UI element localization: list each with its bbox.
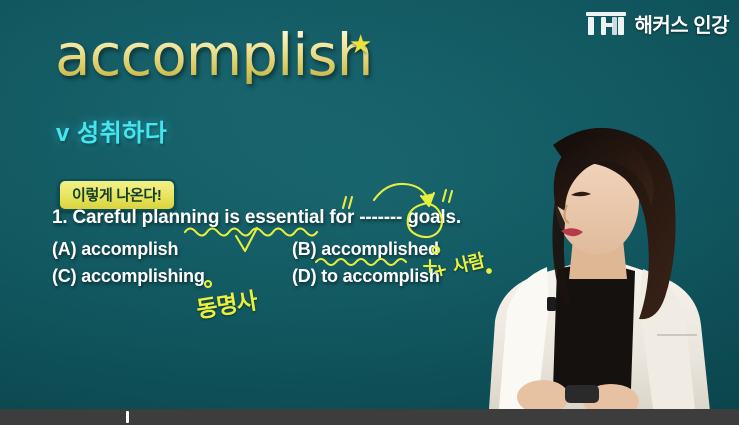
option-d-text: to accomplish xyxy=(321,266,439,286)
option-c-label: (C) xyxy=(52,266,81,286)
emphasis-tick-right xyxy=(443,190,452,202)
ht-monogram-icon xyxy=(585,11,627,36)
option-d: (D) to accomplish xyxy=(292,266,440,287)
arrow-to-goals xyxy=(374,184,428,200)
headword: accomplish xyxy=(55,26,372,84)
arrow-head xyxy=(421,193,434,206)
brand-name: 해커스 인강 xyxy=(634,9,729,38)
star-icon: ★ xyxy=(349,31,372,57)
presenter-remote xyxy=(565,385,599,403)
lecture-slide: 해커스 인강 accomplish ★ v 성취하다 이렇게 나온다! 1. C… xyxy=(0,0,739,409)
option-a: (A) accomplish xyxy=(52,239,292,260)
playhead-marker[interactable] xyxy=(126,411,129,423)
video-player: 해커스 인강 accomplish ★ v 성취하다 이렇게 나온다! 1. C… xyxy=(0,0,739,425)
option-a-label: (A) xyxy=(52,239,81,259)
option-b: (B) accomplished xyxy=(292,239,439,260)
player-control-bar[interactable] xyxy=(0,409,739,425)
option-c: (C) accomplishing xyxy=(52,266,292,287)
option-d-label: (D) xyxy=(292,266,321,286)
brand-logo: 해커스 인강 xyxy=(585,8,729,38)
question-stem: 1. Careful planning is essential for ---… xyxy=(52,207,522,229)
question-block: 1. Careful planning is essential for ---… xyxy=(52,207,522,293)
option-b-text: accomplished xyxy=(321,239,439,259)
option-b-label: (B) xyxy=(292,239,321,259)
option-c-text: accomplishing xyxy=(81,266,204,286)
option-a-text: accomplish xyxy=(81,239,178,259)
word-meaning: v 성취하다 xyxy=(56,113,167,148)
presenter-mic-icon xyxy=(547,297,556,311)
